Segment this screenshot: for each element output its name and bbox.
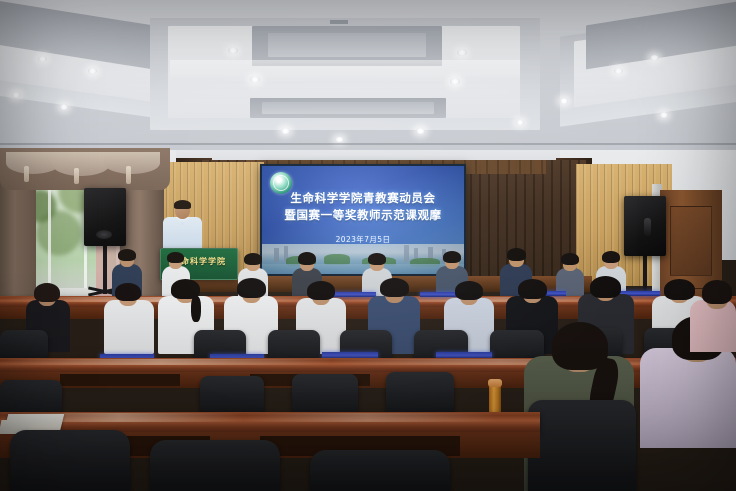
attendee-hair [443, 251, 461, 263]
downlight [416, 128, 425, 134]
chair[interactable] [528, 400, 636, 491]
slide-title-line2: 暨国赛一等奖教师示范课观摩 [262, 207, 464, 224]
desk-monitor[interactable] [330, 292, 376, 297]
attendee-body [640, 348, 736, 448]
downlight [60, 104, 68, 110]
downlight [12, 92, 20, 98]
water-bottle-cap[interactable] [488, 379, 502, 387]
ceiling-cove-glow [170, 60, 520, 82]
speaker-right-cone [644, 218, 651, 236]
downlight [228, 47, 238, 54]
attendee-hair [518, 279, 547, 299]
chair[interactable] [150, 440, 280, 491]
downlight [457, 49, 467, 56]
ceiling-edge-shadow [0, 143, 736, 145]
downlight [281, 128, 290, 134]
slide-date: 2023年7月5日 [262, 234, 464, 245]
chair[interactable] [292, 374, 358, 416]
attendee-hair [664, 279, 695, 300]
presenter-hair [174, 200, 191, 209]
school-emblem-ring [273, 175, 289, 191]
attendee-hair [602, 251, 620, 263]
attendee-hair [590, 276, 621, 298]
attendee-hair [34, 283, 60, 302]
desk-shelf [60, 374, 180, 386]
valance-tassel [24, 166, 29, 182]
downlight [560, 98, 568, 104]
desk-gloss [0, 413, 540, 422]
downlight [650, 55, 659, 61]
attendee-hair [307, 281, 335, 300]
coffered-ceiling [0, 0, 736, 158]
attendee-hair [455, 281, 483, 300]
downlight [516, 120, 524, 125]
speaker-left-cone [96, 230, 112, 239]
chair[interactable] [10, 430, 130, 491]
downlight [250, 76, 260, 83]
attendee-hair [561, 253, 579, 265]
slide-title-line1: 生命科学学院青教赛动员会 [262, 190, 464, 207]
attendee-hair [237, 278, 266, 298]
attendee-hair [507, 248, 526, 261]
downlight [335, 137, 344, 142]
attendee-hair [115, 283, 141, 301]
door-panel-upper [670, 206, 712, 276]
ceiling-center-inner2 [268, 33, 426, 57]
chair[interactable] [200, 376, 264, 416]
lecture-hall-photo: 生命科学学院青教赛动员会 暨国赛一等奖教师示范课观摩 2023年7月5日 生命科… [0, 0, 736, 491]
downlight [88, 68, 97, 74]
downlight [450, 78, 460, 85]
attendee-hair [380, 278, 409, 297]
attendee-body [104, 300, 154, 354]
attendee-ponytail [191, 296, 201, 322]
attendee-hair [244, 253, 262, 265]
slide-title-block: 生命科学学院青教赛动员会 暨国赛一等奖教师示范课观摩 [262, 190, 464, 224]
downlight [38, 56, 47, 62]
attendee-hair [702, 280, 732, 304]
attendee-hair [368, 253, 386, 265]
attendee-hair [298, 252, 316, 265]
valance-swag [52, 152, 110, 176]
downlight [660, 112, 668, 118]
ceiling-center-lower-inner2 [262, 102, 434, 114]
valance-tassel [126, 166, 131, 184]
attendee-hair [167, 252, 184, 263]
speaker-stand-pole-left [103, 246, 107, 294]
valance-tassel [74, 168, 79, 184]
attendee-hair [118, 249, 136, 261]
downlight [614, 68, 623, 74]
ceiling-vent [330, 20, 348, 24]
chair[interactable] [386, 372, 454, 416]
valance-swag [104, 152, 160, 174]
chair[interactable] [310, 450, 450, 491]
